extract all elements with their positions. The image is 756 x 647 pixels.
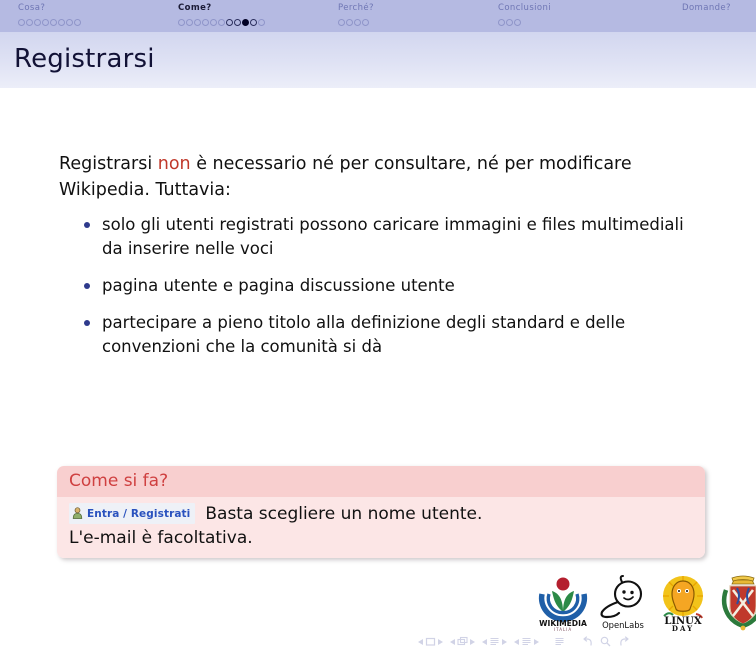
callout-heading: Come si fa? <box>57 466 705 497</box>
openlabs-logo: OpenLabs <box>596 574 650 632</box>
nav-dot[interactable] <box>18 19 25 26</box>
bullet-dot-icon <box>84 222 90 228</box>
nav-dot[interactable] <box>354 19 361 26</box>
nav-section-label: Domande? <box>682 3 756 14</box>
nav-dot[interactable] <box>506 19 513 26</box>
nav-section-conclusioni[interactable]: Conclusioni <box>488 0 648 27</box>
nav-dot[interactable] <box>346 19 353 26</box>
nav-dot[interactable] <box>58 19 65 26</box>
nav-dot[interactable] <box>66 19 73 26</box>
nav-dot[interactable] <box>226 19 233 26</box>
nav-dot[interactable] <box>234 19 241 26</box>
nav-dot[interactable] <box>202 19 209 26</box>
wikimedia-italia-logo: WIKIMEDIA ITALIA <box>536 574 590 632</box>
nav-dot[interactable] <box>50 19 57 26</box>
nav-dot[interactable] <box>338 19 345 26</box>
nav-section-dots[interactable] <box>18 17 168 27</box>
forward-nav-icon[interactable] <box>618 636 629 647</box>
nav-section-domande[interactable]: Domande? <box>672 0 756 27</box>
callout-block: Come si fa? Entra / Registrati Basta sce… <box>57 466 705 558</box>
nav-dot[interactable] <box>42 19 49 26</box>
intro-paragraph: Registrarsi non è necessario né per cons… <box>59 151 684 203</box>
section-icon[interactable] <box>521 636 532 647</box>
nav-dot[interactable] <box>514 19 521 26</box>
callout-line-one: Entra / Registrati Basta scegliere un no… <box>69 503 693 524</box>
slide-content: Registrarsi non è necessario né per cons… <box>0 88 756 569</box>
nav-section-label: Cosa? <box>18 3 168 14</box>
list-item-label: partecipare a pieno titolo alla definizi… <box>102 311 702 359</box>
nav-section-come[interactable]: Come? <box>168 0 328 27</box>
nav-dot[interactable] <box>186 19 193 26</box>
nav-section-dots[interactable] <box>338 17 488 27</box>
nav-dot[interactable] <box>74 19 81 26</box>
frame-icon[interactable] <box>457 636 468 647</box>
svg-text:DAY: DAY <box>672 624 694 632</box>
nav-dot[interactable] <box>498 19 505 26</box>
list-item: solo gli utenti registrati possono caric… <box>84 213 704 261</box>
coat-of-arms-logo <box>716 574 756 632</box>
callout-body: Entra / Registrati Basta scegliere un no… <box>57 497 705 558</box>
nav-dot[interactable] <box>210 19 217 26</box>
sponsor-logos: WIKIMEDIA ITALIA OpenLabs <box>536 574 756 632</box>
svg-text:ITALIA: ITALIA <box>554 627 572 632</box>
nav-dot[interactable] <box>194 19 201 26</box>
section-navigation-group[interactable] <box>514 636 539 647</box>
nav-dot[interactable] <box>178 19 185 26</box>
nav-dot[interactable] <box>250 19 257 26</box>
nav-section-label: Come? <box>178 3 328 14</box>
prev-subsection-icon[interactable] <box>482 639 487 645</box>
nav-section-label: Perché? <box>338 3 488 14</box>
page-title: Registrarsi <box>14 44 155 74</box>
slide-navigation-group[interactable] <box>418 636 443 647</box>
list-item-label: solo gli utenti registrati possono caric… <box>102 213 702 261</box>
svg-text:OpenLabs: OpenLabs <box>602 620 644 630</box>
nav-section-cosa[interactable]: Cosa? <box>8 0 168 27</box>
prev-frame-icon[interactable] <box>450 639 455 645</box>
nav-section-dots[interactable] <box>682 17 756 27</box>
frame-navigation-group[interactable] <box>450 636 475 647</box>
subsection-navigation-group[interactable] <box>482 636 507 647</box>
entra-registrati-label: Entra / Registrati <box>87 508 190 520</box>
nav-dot[interactable] <box>34 19 41 26</box>
slide-icon[interactable] <box>425 636 436 647</box>
presentation-icon[interactable] <box>554 636 565 647</box>
nav-section-label: Conclusioni <box>498 3 648 14</box>
back-nav-icon[interactable] <box>582 636 593 647</box>
user-avatar-icon <box>72 504 83 523</box>
prev-section-icon[interactable] <box>514 639 519 645</box>
nav-dot[interactable] <box>242 19 249 26</box>
list-item-label: pagina utente e pagina discussione utent… <box>102 274 455 298</box>
nav-section-perch[interactable]: Perché? <box>328 0 488 27</box>
nav-section-dots[interactable] <box>178 17 328 27</box>
nav-dot[interactable] <box>362 19 369 26</box>
presentation-navbar: Cosa?Come?Perché?ConclusioniDomande? <box>0 0 756 32</box>
bullet-list: solo gli utenti registrati possono caric… <box>84 213 704 372</box>
beamer-navigation-symbols[interactable] <box>418 636 629 647</box>
prev-slide-icon[interactable] <box>418 639 423 645</box>
bullet-dot-icon <box>84 283 90 289</box>
list-item: pagina utente e pagina discussione utent… <box>84 274 704 298</box>
next-frame-icon[interactable] <box>470 639 475 645</box>
next-slide-icon[interactable] <box>438 639 443 645</box>
intro-paragraph-highlight: non <box>158 154 191 174</box>
callout-text-two: L'e-mail è facoltativa. <box>69 528 693 548</box>
callout-text-one: Basta scegliere un nome utente. <box>205 504 482 524</box>
next-subsection-icon[interactable] <box>502 639 507 645</box>
intro-paragraph-before: Registrarsi <box>59 154 158 174</box>
linux-day-logo: LINUX DAY <box>656 574 710 632</box>
bullet-dot-icon <box>84 320 90 326</box>
nav-section-dots[interactable] <box>498 17 648 27</box>
subsection-icon[interactable] <box>489 636 500 647</box>
nav-dot[interactable] <box>26 19 33 26</box>
nav-dot[interactable] <box>258 19 265 26</box>
next-section-icon[interactable] <box>534 639 539 645</box>
entra-registrati-link[interactable]: Entra / Registrati <box>69 503 195 524</box>
nav-dot[interactable] <box>218 19 225 26</box>
list-item: partecipare a pieno titolo alla definizi… <box>84 311 704 359</box>
search-nav-icon[interactable] <box>600 636 611 647</box>
